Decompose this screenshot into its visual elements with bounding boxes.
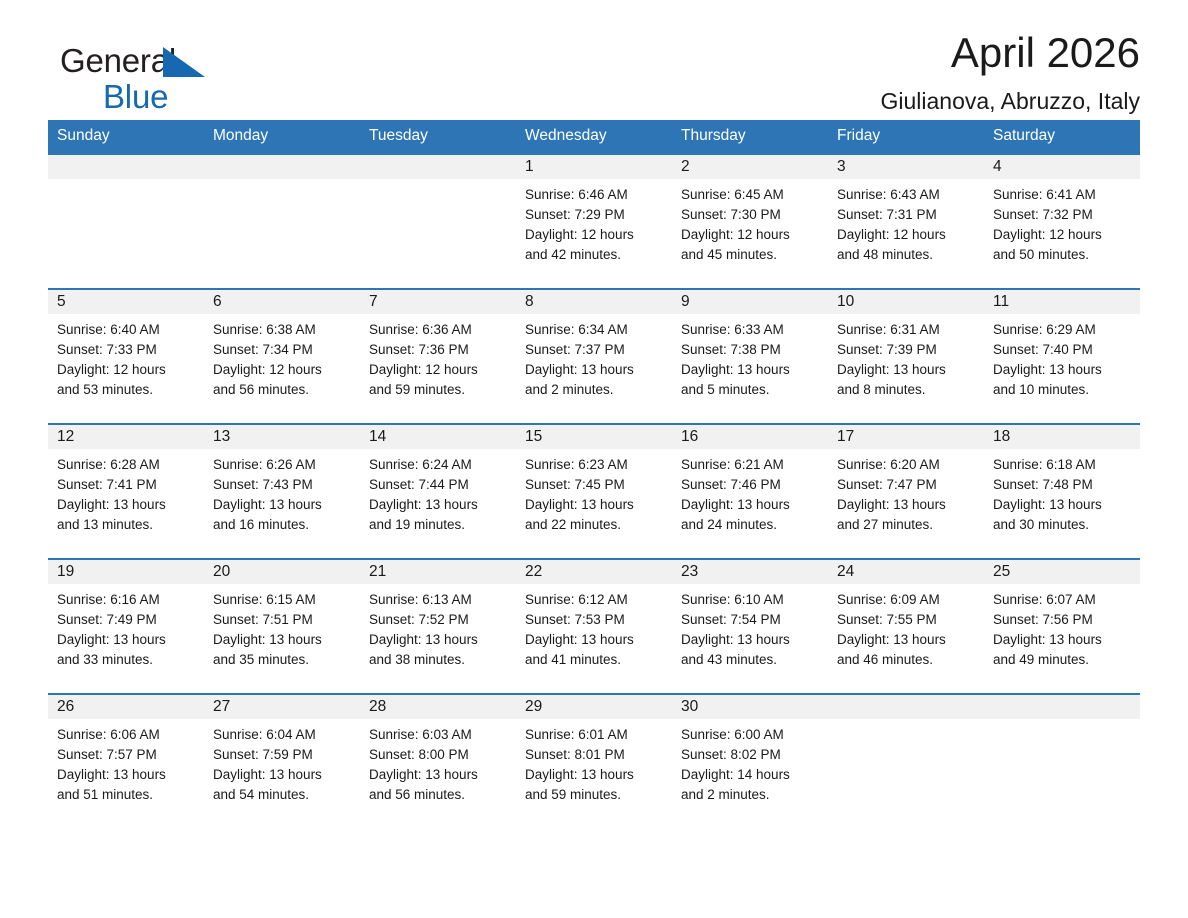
day-sun-info: Sunrise: 6:31 AM Sunset: 7:39 PM Dayligh…	[828, 314, 984, 400]
calendar-day-cell[interactable]: 23Sunrise: 6:10 AM Sunset: 7:54 PM Dayli…	[672, 559, 828, 694]
calendar-cell-empty	[984, 694, 1140, 829]
weekday-header-sunday: Sunday	[48, 120, 204, 154]
day-sun-info: Sunrise: 6:33 AM Sunset: 7:38 PM Dayligh…	[672, 314, 828, 400]
day-number	[828, 695, 984, 719]
calendar-table: Sunday Monday Tuesday Wednesday Thursday…	[48, 120, 1140, 829]
calendar-grid: Sunday Monday Tuesday Wednesday Thursday…	[48, 120, 1140, 829]
calendar-day-cell[interactable]: 26Sunrise: 6:06 AM Sunset: 7:57 PM Dayli…	[48, 694, 204, 829]
logo-triangle-icon	[163, 47, 205, 77]
calendar-day-cell[interactable]: 2Sunrise: 6:45 AM Sunset: 7:30 PM Daylig…	[672, 154, 828, 289]
day-sun-info: Sunrise: 6:24 AM Sunset: 7:44 PM Dayligh…	[360, 449, 516, 535]
calendar-page: General Blue April 2026 Giulianova, Abru…	[0, 0, 1188, 918]
day-number: 28	[360, 695, 516, 719]
calendar-day-cell[interactable]: 7Sunrise: 6:36 AM Sunset: 7:36 PM Daylig…	[360, 289, 516, 424]
calendar-day-cell[interactable]: 29Sunrise: 6:01 AM Sunset: 8:01 PM Dayli…	[516, 694, 672, 829]
day-sun-info: Sunrise: 6:28 AM Sunset: 7:41 PM Dayligh…	[48, 449, 204, 535]
day-number: 17	[828, 425, 984, 449]
calendar-day-cell[interactable]: 28Sunrise: 6:03 AM Sunset: 8:00 PM Dayli…	[360, 694, 516, 829]
day-number: 13	[204, 425, 360, 449]
day-number: 5	[48, 290, 204, 314]
logo-text-general: General	[60, 42, 176, 79]
logo-general-blue: General Blue	[60, 42, 260, 120]
day-number: 29	[516, 695, 672, 719]
day-number: 24	[828, 560, 984, 584]
title-block: April 2026 Giulianova, Abruzzo, Italy	[880, 28, 1140, 116]
calendar-week-row: 19Sunrise: 6:16 AM Sunset: 7:49 PM Dayli…	[48, 559, 1140, 694]
day-sun-info: Sunrise: 6:00 AM Sunset: 8:02 PM Dayligh…	[672, 719, 828, 805]
calendar-day-cell[interactable]: 30Sunrise: 6:00 AM Sunset: 8:02 PM Dayli…	[672, 694, 828, 829]
page-title: April 2026	[880, 28, 1140, 78]
calendar-day-cell[interactable]: 4Sunrise: 6:41 AM Sunset: 7:32 PM Daylig…	[984, 154, 1140, 289]
calendar-day-cell[interactable]: 3Sunrise: 6:43 AM Sunset: 7:31 PM Daylig…	[828, 154, 984, 289]
calendar-day-cell[interactable]: 6Sunrise: 6:38 AM Sunset: 7:34 PM Daylig…	[204, 289, 360, 424]
day-sun-info: Sunrise: 6:03 AM Sunset: 8:00 PM Dayligh…	[360, 719, 516, 805]
calendar-cell-empty	[204, 154, 360, 289]
day-number	[360, 155, 516, 179]
day-sun-info: Sunrise: 6:41 AM Sunset: 7:32 PM Dayligh…	[984, 179, 1140, 265]
day-sun-info: Sunrise: 6:43 AM Sunset: 7:31 PM Dayligh…	[828, 179, 984, 265]
day-number: 22	[516, 560, 672, 584]
day-number: 6	[204, 290, 360, 314]
weekday-header-thursday: Thursday	[672, 120, 828, 154]
calendar-day-cell[interactable]: 18Sunrise: 6:18 AM Sunset: 7:48 PM Dayli…	[984, 424, 1140, 559]
day-number: 23	[672, 560, 828, 584]
day-number	[984, 695, 1140, 719]
calendar-cell-empty	[48, 154, 204, 289]
day-sun-info: Sunrise: 6:18 AM Sunset: 7:48 PM Dayligh…	[984, 449, 1140, 535]
day-sun-info: Sunrise: 6:36 AM Sunset: 7:36 PM Dayligh…	[360, 314, 516, 400]
day-sun-info: Sunrise: 6:38 AM Sunset: 7:34 PM Dayligh…	[204, 314, 360, 400]
calendar-body: 1Sunrise: 6:46 AM Sunset: 7:29 PM Daylig…	[48, 154, 1140, 829]
calendar-day-cell[interactable]: 9Sunrise: 6:33 AM Sunset: 7:38 PM Daylig…	[672, 289, 828, 424]
calendar-day-cell[interactable]: 21Sunrise: 6:13 AM Sunset: 7:52 PM Dayli…	[360, 559, 516, 694]
day-number: 21	[360, 560, 516, 584]
day-sun-info: Sunrise: 6:16 AM Sunset: 7:49 PM Dayligh…	[48, 584, 204, 670]
day-sun-info: Sunrise: 6:40 AM Sunset: 7:33 PM Dayligh…	[48, 314, 204, 400]
day-number: 3	[828, 155, 984, 179]
day-number: 8	[516, 290, 672, 314]
calendar-week-row: 26Sunrise: 6:06 AM Sunset: 7:57 PM Dayli…	[48, 694, 1140, 829]
logo-row-general: General	[60, 42, 260, 80]
calendar-week-row: 1Sunrise: 6:46 AM Sunset: 7:29 PM Daylig…	[48, 154, 1140, 289]
day-sun-info: Sunrise: 6:13 AM Sunset: 7:52 PM Dayligh…	[360, 584, 516, 670]
day-number: 10	[828, 290, 984, 314]
logo-text-blue: Blue	[103, 78, 260, 116]
day-number: 27	[204, 695, 360, 719]
day-sun-info: Sunrise: 6:45 AM Sunset: 7:30 PM Dayligh…	[672, 179, 828, 265]
calendar-day-cell[interactable]: 14Sunrise: 6:24 AM Sunset: 7:44 PM Dayli…	[360, 424, 516, 559]
day-number: 18	[984, 425, 1140, 449]
calendar-cell-empty	[360, 154, 516, 289]
day-number: 9	[672, 290, 828, 314]
day-sun-info: Sunrise: 6:04 AM Sunset: 7:59 PM Dayligh…	[204, 719, 360, 805]
calendar-day-cell[interactable]: 20Sunrise: 6:15 AM Sunset: 7:51 PM Dayli…	[204, 559, 360, 694]
day-sun-info: Sunrise: 6:46 AM Sunset: 7:29 PM Dayligh…	[516, 179, 672, 265]
day-number: 15	[516, 425, 672, 449]
day-number: 12	[48, 425, 204, 449]
day-number: 26	[48, 695, 204, 719]
calendar-day-cell[interactable]: 8Sunrise: 6:34 AM Sunset: 7:37 PM Daylig…	[516, 289, 672, 424]
day-number: 20	[204, 560, 360, 584]
day-number	[204, 155, 360, 179]
calendar-header-row: Sunday Monday Tuesday Wednesday Thursday…	[48, 120, 1140, 154]
day-number: 11	[984, 290, 1140, 314]
weekday-header-wednesday: Wednesday	[516, 120, 672, 154]
day-number: 19	[48, 560, 204, 584]
weekday-header-monday: Monday	[204, 120, 360, 154]
calendar-week-row: 5Sunrise: 6:40 AM Sunset: 7:33 PM Daylig…	[48, 289, 1140, 424]
day-sun-info: Sunrise: 6:29 AM Sunset: 7:40 PM Dayligh…	[984, 314, 1140, 400]
day-number	[48, 155, 204, 179]
weekday-header-saturday: Saturday	[984, 120, 1140, 154]
day-number: 1	[516, 155, 672, 179]
calendar-cell-empty	[828, 694, 984, 829]
day-sun-info: Sunrise: 6:15 AM Sunset: 7:51 PM Dayligh…	[204, 584, 360, 670]
calendar-day-cell[interactable]: 1Sunrise: 6:46 AM Sunset: 7:29 PM Daylig…	[516, 154, 672, 289]
day-sun-info: Sunrise: 6:10 AM Sunset: 7:54 PM Dayligh…	[672, 584, 828, 670]
day-sun-info: Sunrise: 6:12 AM Sunset: 7:53 PM Dayligh…	[516, 584, 672, 670]
calendar-day-cell[interactable]: 5Sunrise: 6:40 AM Sunset: 7:33 PM Daylig…	[48, 289, 204, 424]
weekday-header-friday: Friday	[828, 120, 984, 154]
day-sun-info: Sunrise: 6:23 AM Sunset: 7:45 PM Dayligh…	[516, 449, 672, 535]
day-number: 7	[360, 290, 516, 314]
calendar-day-cell[interactable]: 22Sunrise: 6:12 AM Sunset: 7:53 PM Dayli…	[516, 559, 672, 694]
calendar-day-cell[interactable]: 27Sunrise: 6:04 AM Sunset: 7:59 PM Dayli…	[204, 694, 360, 829]
calendar-day-cell[interactable]: 16Sunrise: 6:21 AM Sunset: 7:46 PM Dayli…	[672, 424, 828, 559]
calendar-week-row: 12Sunrise: 6:28 AM Sunset: 7:41 PM Dayli…	[48, 424, 1140, 559]
page-subtitle: Giulianova, Abruzzo, Italy	[880, 86, 1140, 116]
calendar-day-cell[interactable]: 19Sunrise: 6:16 AM Sunset: 7:49 PM Dayli…	[48, 559, 204, 694]
calendar-day-cell[interactable]: 17Sunrise: 6:20 AM Sunset: 7:47 PM Dayli…	[828, 424, 984, 559]
page-header: General Blue April 2026 Giulianova, Abru…	[48, 0, 1140, 112]
day-sun-info: Sunrise: 6:09 AM Sunset: 7:55 PM Dayligh…	[828, 584, 984, 670]
day-sun-info: Sunrise: 6:20 AM Sunset: 7:47 PM Dayligh…	[828, 449, 984, 535]
day-sun-info: Sunrise: 6:01 AM Sunset: 8:01 PM Dayligh…	[516, 719, 672, 805]
weekday-header-tuesday: Tuesday	[360, 120, 516, 154]
day-sun-info: Sunrise: 6:34 AM Sunset: 7:37 PM Dayligh…	[516, 314, 672, 400]
calendar-day-cell[interactable]: 13Sunrise: 6:26 AM Sunset: 7:43 PM Dayli…	[204, 424, 360, 559]
calendar-day-cell[interactable]: 10Sunrise: 6:31 AM Sunset: 7:39 PM Dayli…	[828, 289, 984, 424]
day-number: 14	[360, 425, 516, 449]
day-number: 30	[672, 695, 828, 719]
day-number: 4	[984, 155, 1140, 179]
day-sun-info: Sunrise: 6:07 AM Sunset: 7:56 PM Dayligh…	[984, 584, 1140, 670]
day-sun-info: Sunrise: 6:21 AM Sunset: 7:46 PM Dayligh…	[672, 449, 828, 535]
day-number: 2	[672, 155, 828, 179]
day-sun-info: Sunrise: 6:06 AM Sunset: 7:57 PM Dayligh…	[48, 719, 204, 805]
calendar-day-cell[interactable]: 15Sunrise: 6:23 AM Sunset: 7:45 PM Dayli…	[516, 424, 672, 559]
day-number: 16	[672, 425, 828, 449]
calendar-day-cell[interactable]: 12Sunrise: 6:28 AM Sunset: 7:41 PM Dayli…	[48, 424, 204, 559]
calendar-day-cell[interactable]: 24Sunrise: 6:09 AM Sunset: 7:55 PM Dayli…	[828, 559, 984, 694]
day-number: 25	[984, 560, 1140, 584]
day-sun-info: Sunrise: 6:26 AM Sunset: 7:43 PM Dayligh…	[204, 449, 360, 535]
calendar-day-cell[interactable]: 25Sunrise: 6:07 AM Sunset: 7:56 PM Dayli…	[984, 559, 1140, 694]
calendar-day-cell[interactable]: 11Sunrise: 6:29 AM Sunset: 7:40 PM Dayli…	[984, 289, 1140, 424]
